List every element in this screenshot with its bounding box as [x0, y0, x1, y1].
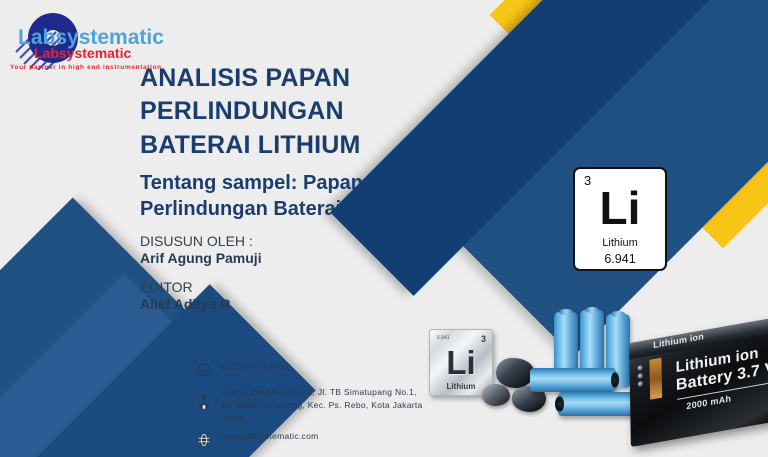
location-pin-icon [194, 392, 214, 412]
cylindrical-cell [558, 392, 636, 416]
lithium-metal-cube: 6.941 3 Li Lithium [429, 329, 493, 396]
phone-number[interactable]: (021) 8778 6469 [222, 360, 289, 373]
company-logo: Labsystematic Labsystematic Your partner… [6, 8, 174, 70]
presentation-cover-slide: Labsystematic Labsystematic Your partner… [0, 0, 768, 457]
lithium-ore-rock [496, 358, 534, 388]
contact-row-phone: (021) 8778 6469 [194, 360, 429, 380]
editor-role: EDITOR [140, 279, 440, 297]
cylindrical-cell [530, 368, 616, 392]
battery-contact-strip [649, 358, 662, 400]
title-block: ANALISIS PAPAN PERLINDUNGAN BATERAI LITH… [140, 62, 440, 325]
cube-atomic-mass: 6.941 [437, 335, 450, 341]
editor-name: Alief Aditya R [140, 296, 440, 314]
cube-symbol: Li [430, 346, 492, 379]
element-symbol: Li [575, 185, 665, 231]
cube-atomic-number: 3 [481, 334, 486, 344]
battery-contacts [638, 365, 643, 387]
lithium-ion-battery-pack: Lithium ion Lithium ion Battery 3.7 V 20… [629, 317, 768, 447]
subtitle: Tentang sampel: Papan Perlindungan Bater… [140, 170, 440, 223]
phone-icon [194, 360, 214, 380]
credits-block: DISUSUN OLEH : Arif Agung Pamuji EDITOR … [140, 233, 440, 314]
contact-row-address: Graha Zima Kav No. 1, Jl. TB Simatupang … [194, 386, 429, 424]
battery-edge-label: Lithium ion [653, 331, 704, 350]
address-text: Graha Zima Kav No. 1, Jl. TB Simatupang … [222, 386, 429, 424]
element-atomic-mass: 6.941 [575, 252, 665, 266]
main-title: ANALISIS PAPAN PERLINDUNGAN BATERAI LITH… [140, 62, 440, 162]
author-role: DISUSUN OLEH : [140, 233, 440, 251]
title-line-2: PERLINDUNGAN [140, 95, 440, 128]
globe-icon [194, 430, 214, 450]
periodic-element-card: 3 Li Lithium 6.941 [573, 167, 667, 271]
title-line-3: BATERAI LITHIUM [140, 129, 440, 162]
element-name: Lithium [575, 237, 665, 249]
subtitle-line-2: Perlindungan Baterai [140, 196, 440, 222]
lithium-ore-rock [482, 384, 510, 406]
contact-block: (021) 8778 6469 Graha Zima Kav No. 1, Jl… [194, 360, 429, 456]
author-name: Arif Agung Pamuji [140, 250, 440, 268]
logo-wordmark-front: Labsystematic [34, 45, 131, 61]
website-url[interactable]: www.labsystematic.com [222, 430, 319, 443]
product-photo: 6.941 3 Li Lithium Lithium ion Lithium i… [412, 302, 768, 457]
contact-row-website: www.labsystematic.com [194, 430, 429, 450]
title-line-1: ANALISIS PAPAN [140, 62, 440, 95]
logo-graphic: Labsystematic Labsystematic Your partner… [6, 8, 174, 70]
subtitle-line-1: Tentang sampel: Papan [140, 170, 440, 196]
